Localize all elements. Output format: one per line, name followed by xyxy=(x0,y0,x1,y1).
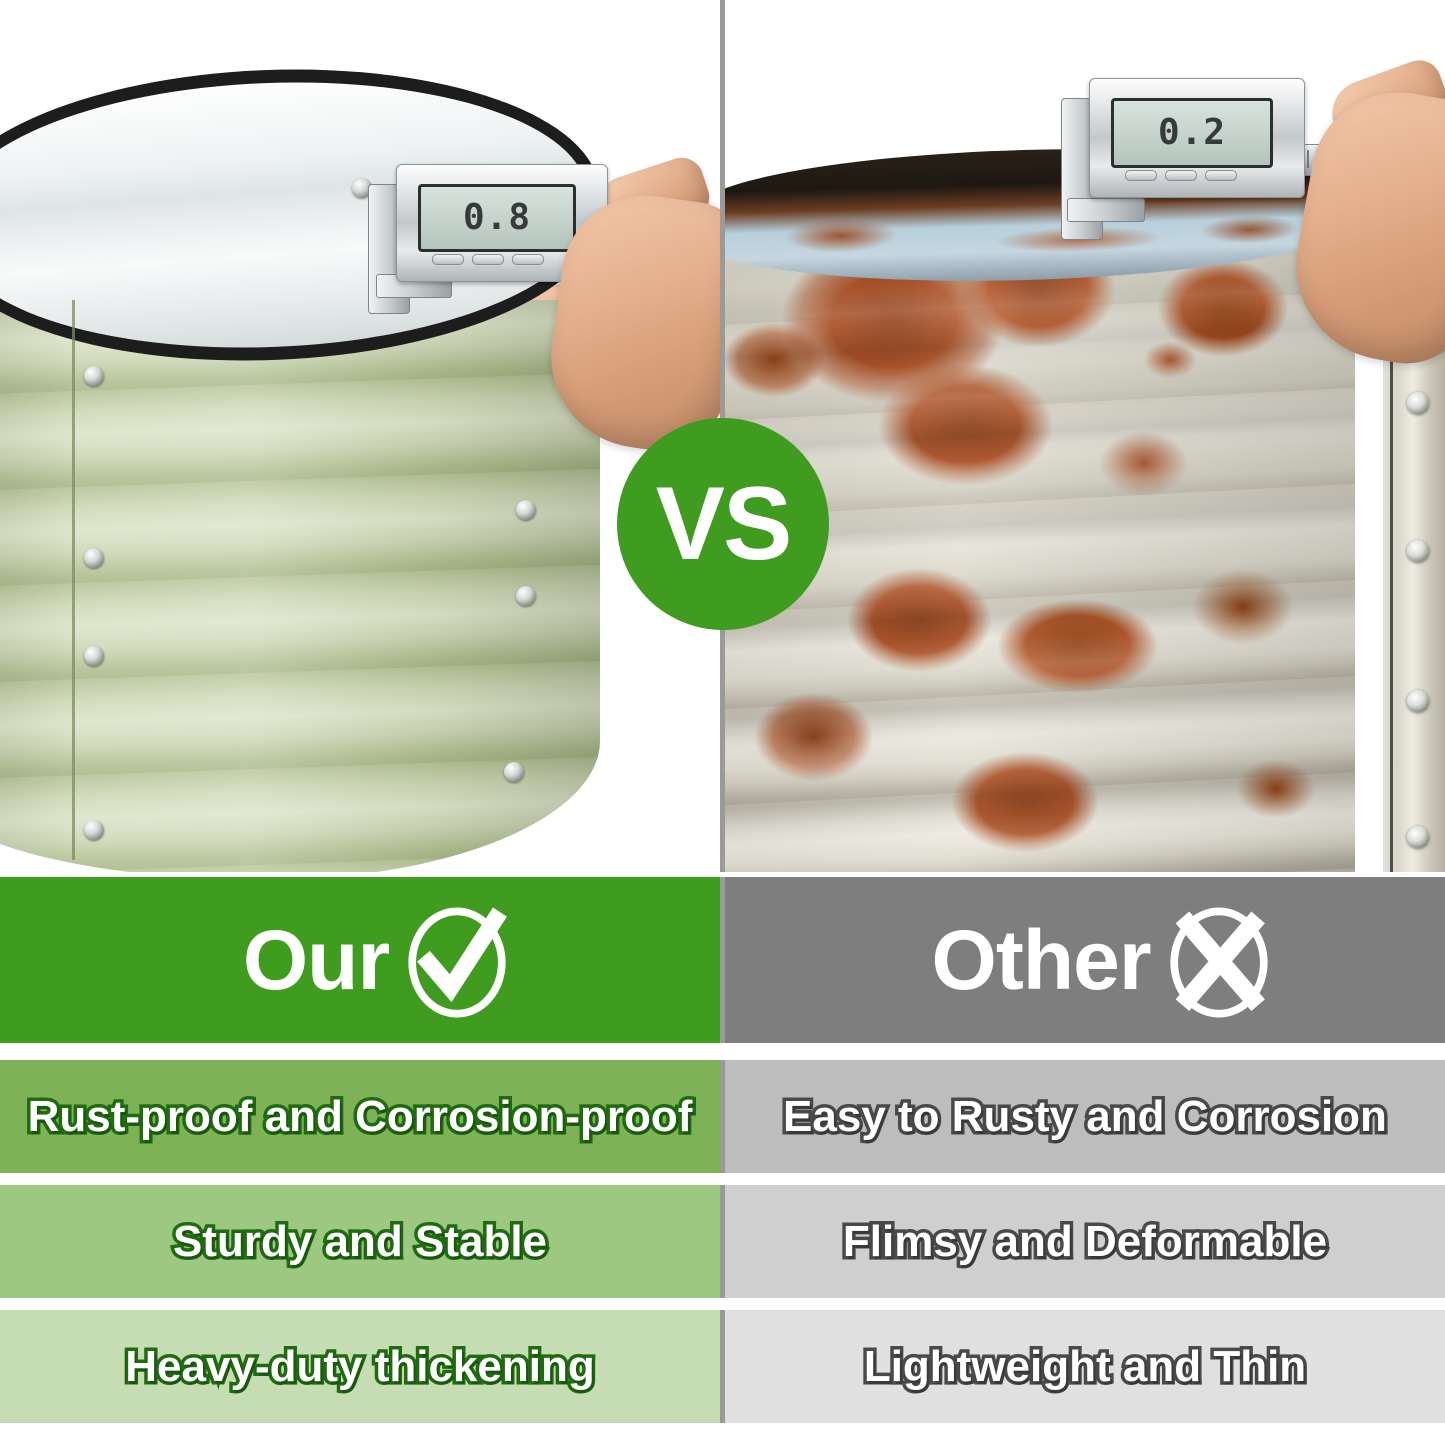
table-divider xyxy=(720,877,725,1043)
caliper-button[interactable] xyxy=(472,254,504,265)
feature-label-ours-2: Sturdy and Stable xyxy=(173,1220,547,1264)
feature-cell-other-3: Lightweight and Thin xyxy=(725,1310,1445,1423)
check-circle-icon xyxy=(393,896,521,1024)
right-caliper-reading: 0.2 xyxy=(1158,115,1226,151)
header-cell-ours: Our xyxy=(0,877,720,1043)
x-circle-icon xyxy=(1155,896,1283,1024)
caliper-button[interactable] xyxy=(1205,170,1237,181)
rivet-icon xyxy=(1407,392,1429,414)
rivet-icon xyxy=(1407,690,1429,712)
vs-badge: VS xyxy=(617,418,829,630)
comparison-infographic: 0.8 xyxy=(0,0,1445,1445)
feature-label-ours-1: Rust-proof and Corrosion-proof xyxy=(28,1095,693,1139)
green-bed-seam xyxy=(72,300,75,860)
header-cell-other: Other xyxy=(725,877,1445,1043)
caliper-button[interactable] xyxy=(512,254,544,265)
feature-cell-other-2: Flimsy and Deformable xyxy=(725,1185,1445,1298)
rivet-icon xyxy=(84,820,104,840)
left-caliper-reading: 0.8 xyxy=(463,200,531,236)
table-divider xyxy=(720,1310,725,1423)
table-divider xyxy=(720,1060,725,1173)
caliper-screen: 0.2 xyxy=(1111,98,1273,168)
rivet-icon xyxy=(1407,540,1429,562)
caliper-screen: 0.8 xyxy=(418,184,576,252)
comparison-table: Our Other xyxy=(0,872,1445,1445)
caliper-button[interactable] xyxy=(432,254,464,265)
rivet-icon xyxy=(84,646,104,666)
caliper-button[interactable] xyxy=(1165,170,1197,181)
right-product-photo: 0.2 xyxy=(725,0,1445,872)
caliper-lower-jaw xyxy=(1067,198,1145,222)
rivet-icon xyxy=(84,366,104,386)
feature-label-other-2: Flimsy and Deformable xyxy=(843,1220,1327,1264)
feature-label-other-3: Lightweight and Thin xyxy=(864,1345,1306,1389)
table-divider xyxy=(720,1185,725,1298)
feature-label-ours-3: Heavy-duty thickening xyxy=(125,1345,594,1389)
vs-badge-label: VS xyxy=(656,472,791,576)
rivet-icon xyxy=(1407,826,1429,848)
rivet-icon xyxy=(84,548,104,568)
feature-cell-ours-2: Sturdy and Stable xyxy=(0,1185,720,1298)
rivet-icon xyxy=(504,762,524,782)
feature-cell-other-1: Easy to Rusty and Corrosion xyxy=(725,1060,1445,1173)
header-label-ours: Our xyxy=(243,918,389,1002)
rivet-icon xyxy=(516,500,536,520)
green-bed-corrugated-body xyxy=(0,300,600,872)
feature-cell-ours-3: Heavy-duty thickening xyxy=(0,1310,720,1423)
feature-cell-ours-1: Rust-proof and Corrosion-proof xyxy=(0,1060,720,1173)
rivet-icon xyxy=(516,586,536,606)
feature-label-other-1: Easy to Rusty and Corrosion xyxy=(783,1095,1387,1139)
left-product-photo: 0.8 xyxy=(0,0,720,872)
caliper-button[interactable] xyxy=(1125,170,1157,181)
header-label-other: Other xyxy=(931,918,1150,1002)
